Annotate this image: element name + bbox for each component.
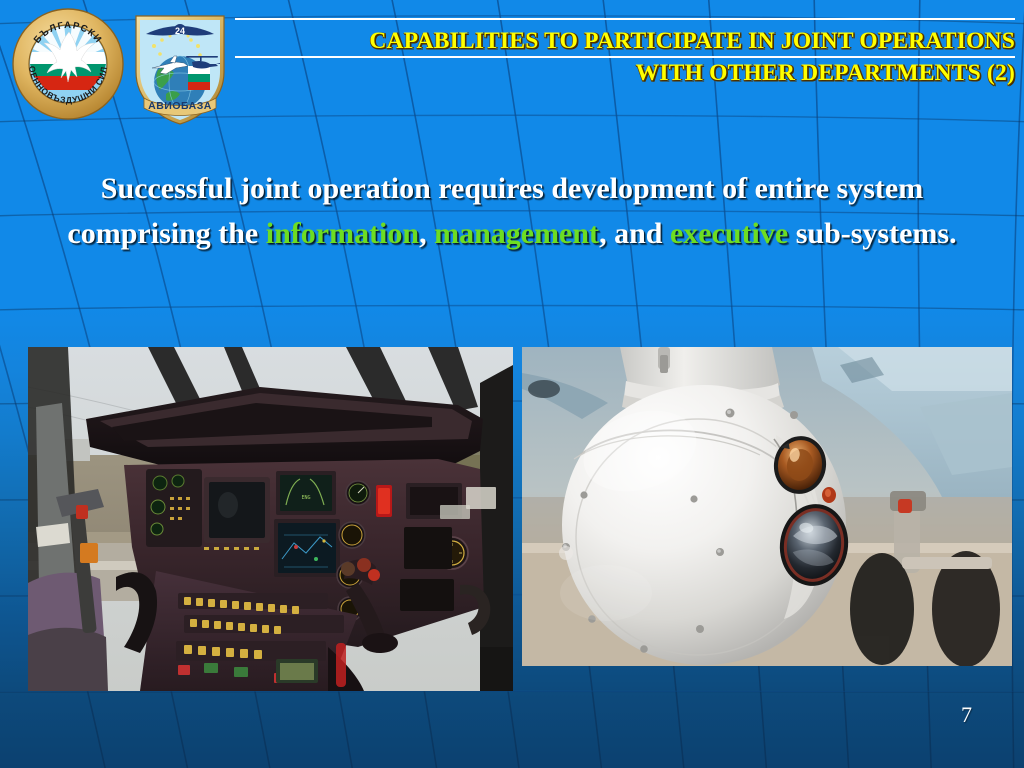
svg-text:ENG: ENG [301, 495, 310, 501]
emblem-banner-text: АВИОБАЗА [148, 100, 212, 112]
slide-title-line-1: CAPABILITIES TO PARTICIPATE IN JOINT OPE… [235, 28, 1015, 54]
body-highlight-term: information [266, 217, 419, 250]
slide-title-block: CAPABILITIES TO PARTICIPATE IN JOINT OPE… [235, 18, 1015, 86]
page-number: 7 [961, 702, 972, 728]
body-text-segment: , and [599, 217, 670, 250]
eo-ir-sensor-turret-photo [522, 347, 1012, 666]
title-rule-top [235, 18, 1015, 20]
slide-header: БЪЛГАРСКИ ВОЕННОВЪЗДУШНИ СИЛИ [0, 0, 1024, 132]
title-rule-middle [235, 56, 1015, 58]
24th-air-base-emblem: 24 [130, 10, 230, 126]
body-text-segment: sub-systems. [788, 217, 956, 250]
helicopter-cockpit-photo: ENG [28, 347, 513, 691]
bulgarian-air-force-emblem: БЪЛГАРСКИ ВОЕННОВЪЗДУШНИ СИЛИ [12, 8, 124, 120]
slide-title-line-2: WITH OTHER DEPARTMENTS (2) [235, 60, 1015, 86]
slide-body-text: Successful joint operation requires deve… [34, 166, 990, 256]
presentation-slide: БЪЛГАРСКИ ВОЕННОВЪЗДУШНИ СИЛИ [0, 0, 1024, 768]
body-highlight-term: management [434, 217, 599, 250]
body-text-segment: , [419, 217, 434, 250]
body-highlight-term: executive [670, 217, 788, 250]
emblem-number-text: 24 [175, 26, 185, 36]
